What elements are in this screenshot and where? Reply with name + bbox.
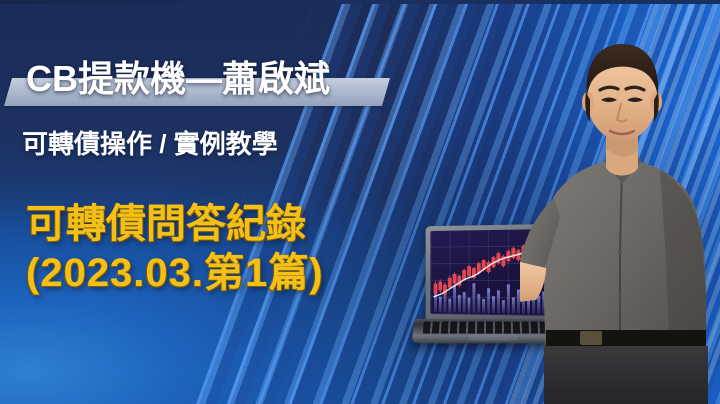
subtitle: 可轉債操作 / 實例教學	[22, 124, 278, 161]
page-title: CB提款機—蕭啟斌	[26, 50, 330, 102]
video-thumbnail: CB提款機—蕭啟斌 可轉債操作 / 實例教學 可轉債問答紀錄 (2023.03.…	[0, 0, 720, 404]
belt-buckle	[580, 331, 602, 345]
hand-left	[520, 262, 546, 302]
shirt-button	[618, 250, 622, 254]
headline-line-2: (2023.03.第1篇)	[26, 249, 446, 298]
headline-line-1: 可轉債問答紀錄	[26, 200, 446, 249]
laptop-trackpad	[469, 334, 518, 340]
belt	[546, 330, 706, 346]
presenter-portrait	[520, 0, 720, 404]
trousers	[544, 346, 708, 404]
shirt-button	[619, 206, 623, 210]
headline-block: 可轉債問答紀錄 (2023.03.第1篇)	[26, 200, 446, 298]
shirt-button	[618, 294, 622, 298]
